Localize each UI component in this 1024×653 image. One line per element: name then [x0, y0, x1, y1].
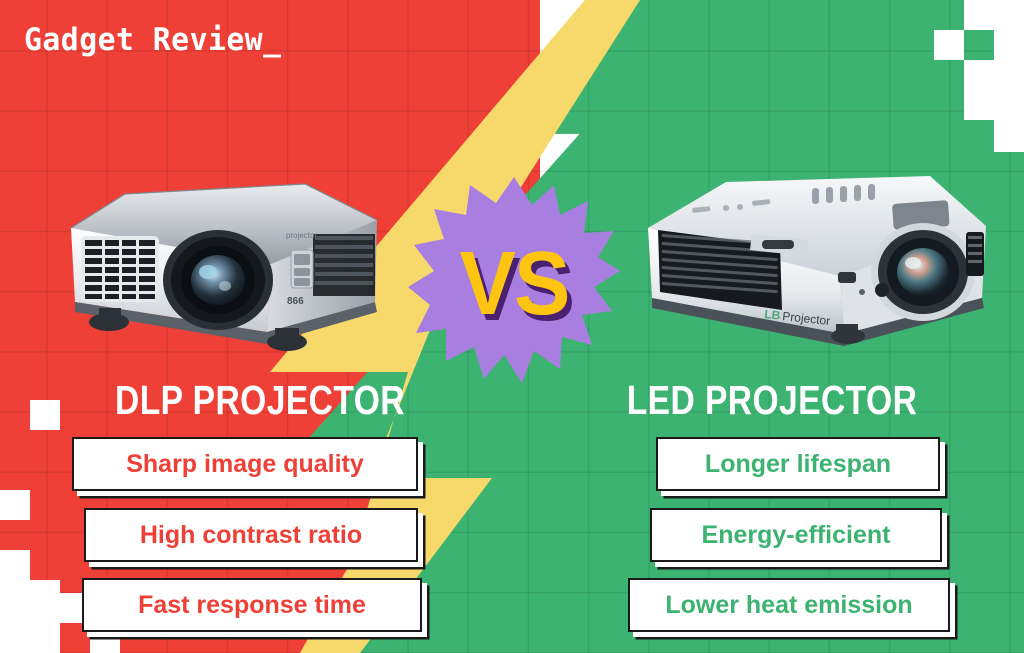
- dlp-projector-image: projector 866: [55, 176, 395, 360]
- comparison-infographic: Gadget Review_: [0, 0, 1024, 653]
- led-projector-image: LB Projector: [630, 168, 1002, 358]
- right-feature-card-3[interactable]: Lower heat emission: [628, 578, 950, 632]
- right-feature-card-1[interactable]: Longer lifespan: [656, 437, 940, 491]
- svg-text:projector: projector: [286, 231, 317, 240]
- left-title: DLP PROJECTOR: [47, 377, 473, 424]
- vs-burst-badge: VS: [408, 175, 620, 393]
- right-title: LED PROJECTOR: [565, 377, 978, 424]
- left-feature-card-1[interactable]: Sharp image quality: [72, 437, 418, 491]
- right-feature-card-2[interactable]: Energy-efficient: [650, 508, 942, 562]
- svg-text:LB: LB: [764, 307, 782, 323]
- left-feature-card-3[interactable]: Fast response time: [82, 578, 422, 632]
- svg-text:866: 866: [287, 296, 304, 307]
- left-feature-card-2[interactable]: High contrast ratio: [84, 508, 418, 562]
- brand-logo: Gadget Review_: [24, 22, 282, 58]
- vs-label: VS: [414, 175, 613, 393]
